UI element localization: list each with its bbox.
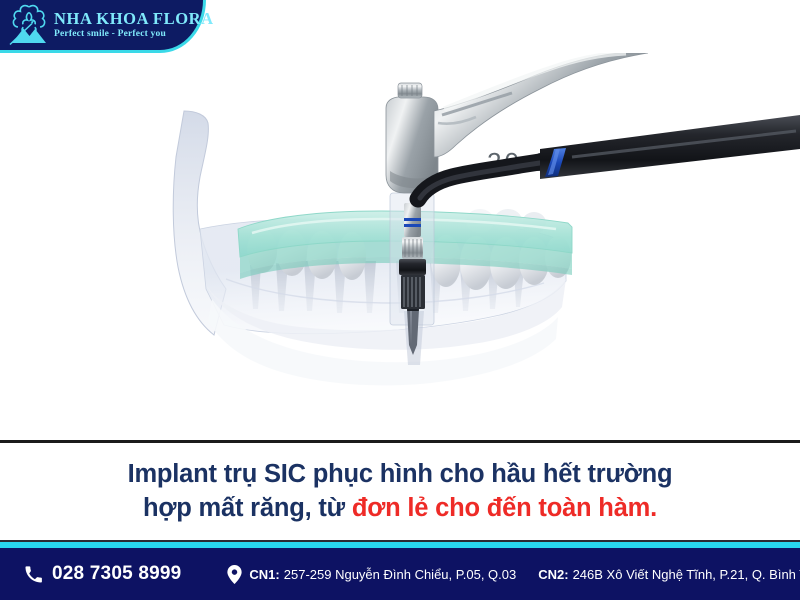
footer-phone-group[interactable]: 028 7305 8999	[24, 563, 181, 585]
caption-line-2-text: hợp mất răng, từ	[143, 494, 352, 522]
flora-blossom-mountain-logo	[6, 3, 52, 47]
phone-handset-icon	[24, 565, 43, 584]
map-pin-icon	[227, 565, 242, 584]
footer-branch1-group[interactable]: CN1: 257-259 Nguyễn Đình Chiểu, P.05, Q.…	[227, 565, 516, 584]
ad-banner-page: NHA KHOA FLORA Perfect smile - Perfect y…	[0, 0, 800, 600]
hero-image-area: 20:1	[0, 53, 800, 440]
footer-branch1-label: CN1:	[249, 567, 279, 582]
caption-band: Implant trụ SIC phục hình cho hầu hết tr…	[0, 443, 800, 540]
footer-branch2-label: CN2:	[538, 567, 568, 582]
footer-branch2-group[interactable]: CN2: 246B Xô Viết Nghệ Tĩnh, P.21, Q. Bì…	[538, 567, 800, 582]
footer-branch2-address: 246B Xô Viết Nghệ Tĩnh, P.21, Q. Bình Th…	[573, 567, 800, 582]
brand-tagline: Perfect smile - Perfect you	[54, 30, 214, 40]
footer-branch1-address: 257-259 Nguyễn Đình Chiểu, P.05, Q.03	[284, 567, 516, 582]
brand-text-block: NHA KHOA FLORA Perfect smile - Perfect y…	[54, 11, 214, 40]
brand-name: NHA KHOA FLORA	[54, 11, 214, 28]
brand-header-bar: NHA KHOA FLORA Perfect smile - Perfect y…	[0, 0, 206, 53]
caption-line-1: Implant trụ SIC phục hình cho hầu hết tr…	[128, 458, 673, 492]
footer-phone-number: 028 7305 8999	[52, 563, 181, 585]
dental-implant-illustration: 20:1	[0, 53, 800, 440]
caption-line-2: hợp mất răng, từ đơn lẻ cho đến toàn hàm…	[143, 492, 657, 526]
caption-line-2-accent: đơn lẻ cho đến toàn hàm.	[352, 494, 657, 522]
contact-footer-bar: 028 7305 8999 CN1: 257-259 Nguyễn Đình C…	[0, 548, 800, 600]
